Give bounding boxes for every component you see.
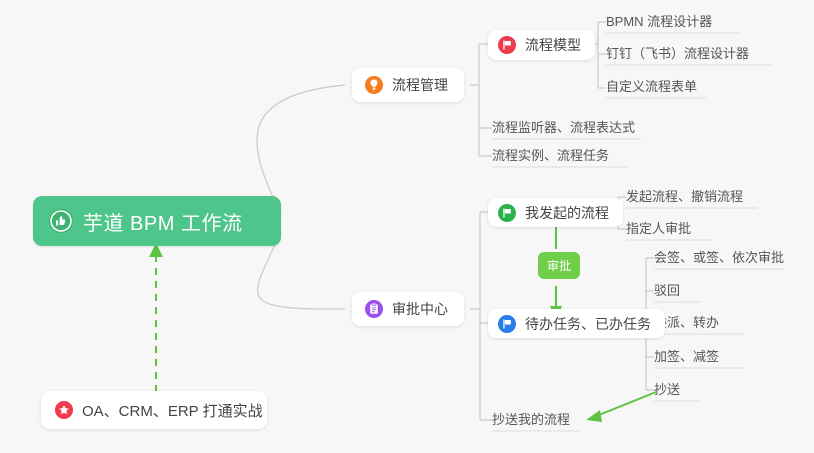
node-reject-label: 驳回 — [654, 283, 680, 298]
node-instance-task[interactable]: 流程实例、流程任务 — [486, 145, 615, 168]
node-cc-to-me-process[interactable]: 抄送我的流程 — [486, 409, 576, 432]
node-cc-to-me-process-label: 抄送我的流程 — [492, 412, 570, 427]
flag-green-icon — [498, 204, 516, 222]
flag-red-icon — [498, 36, 516, 54]
node-process-management[interactable]: 流程管理 — [352, 68, 464, 102]
lightbulb-icon — [365, 76, 383, 94]
node-my-started-process[interactable]: 我发起的流程 — [488, 198, 623, 227]
node-approval-center-label: 审批中心 — [392, 299, 448, 319]
node-start-cancel-process-label: 发起流程、撤销流程 — [626, 189, 743, 204]
node-assignee-approval-label: 指定人审批 — [626, 221, 691, 236]
node-integration[interactable]: OA、CRM、ERP 打通实战 — [41, 391, 267, 429]
node-dingtalk-feishu-designer-label: 钉钉（飞书）流程设计器 — [606, 46, 749, 61]
link-root-to-process-management — [257, 85, 345, 214]
node-approval-center[interactable]: 审批中心 — [352, 292, 464, 326]
node-my-started-process-label: 我发起的流程 — [525, 203, 609, 223]
node-bpmn-designer[interactable]: BPMN 流程设计器 — [600, 11, 718, 34]
node-process-model[interactable]: 流程模型 — [488, 30, 595, 60]
cc-relation-arrow — [594, 392, 656, 417]
node-todo-done-task[interactable]: 待办任务、已办任务 — [488, 309, 665, 338]
approval-tag-label: 审批 — [547, 259, 571, 273]
star-icon — [55, 401, 73, 419]
root-node[interactable]: 芋道 BPM 工作流 — [33, 196, 281, 246]
node-listener-expression[interactable]: 流程监听器、流程表达式 — [486, 117, 641, 140]
node-counter-or-sequential-sign-label: 会签、或签、依次审批 — [654, 250, 784, 265]
node-counter-or-sequential-sign[interactable]: 会签、或签、依次审批 — [648, 247, 790, 270]
mindmap-canvas: 芋道 BPM 工作流 流程管理 审批中心 — [0, 0, 814, 453]
node-listener-expression-label: 流程监听器、流程表达式 — [492, 120, 635, 135]
node-add-remove-sign-label: 加签、减签 — [654, 349, 719, 364]
node-todo-done-task-label: 待办任务、已办任务 — [525, 314, 651, 334]
node-process-management-label: 流程管理 — [392, 75, 448, 95]
node-custom-process-form-label: 自定义流程表单 — [606, 79, 697, 94]
root-label: 芋道 BPM 工作流 — [83, 207, 242, 236]
node-process-model-label: 流程模型 — [525, 35, 581, 55]
node-cc-label: 抄送 — [654, 382, 680, 397]
node-assignee-approval[interactable]: 指定人审批 — [620, 218, 697, 241]
clipboard-icon — [365, 300, 383, 318]
flag-blue-icon — [498, 315, 516, 333]
node-instance-task-label: 流程实例、流程任务 — [492, 148, 609, 163]
node-custom-process-form[interactable]: 自定义流程表单 — [600, 76, 703, 99]
cc-arrow-head — [586, 410, 602, 422]
node-start-cancel-process[interactable]: 发起流程、撤销流程 — [620, 186, 749, 209]
thumbs-up-icon — [49, 209, 73, 233]
node-dingtalk-feishu-designer[interactable]: 钉钉（飞书）流程设计器 — [600, 43, 755, 66]
approval-tag[interactable]: 审批 — [538, 252, 580, 279]
node-add-remove-sign[interactable]: 加签、减签 — [648, 346, 725, 369]
node-reject[interactable]: 驳回 — [648, 280, 686, 303]
node-cc[interactable]: 抄送 — [648, 379, 686, 402]
node-integration-label: OA、CRM、ERP 打通实战 — [82, 400, 263, 421]
node-bpmn-designer-label: BPMN 流程设计器 — [606, 14, 712, 29]
